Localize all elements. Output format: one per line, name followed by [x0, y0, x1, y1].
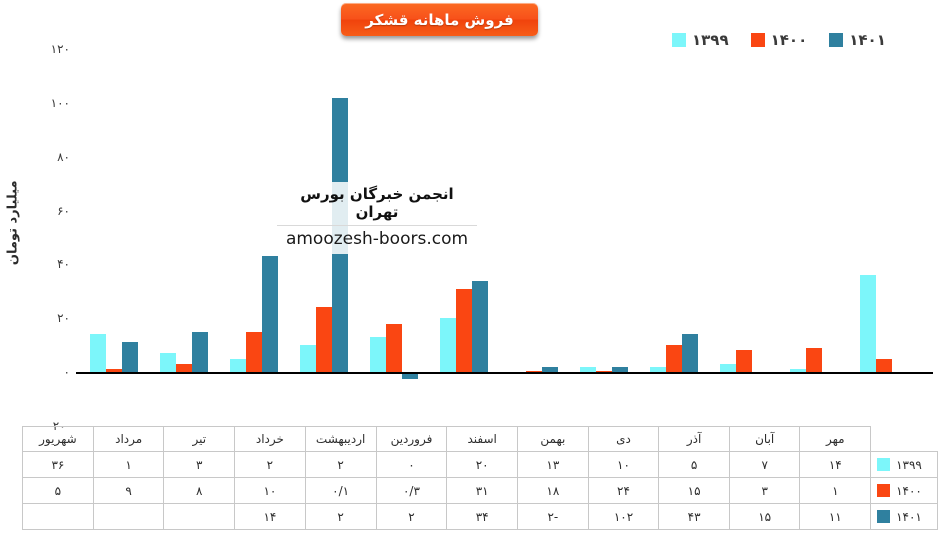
bar-۱۴۰۰-شهریور[interactable]	[876, 359, 892, 372]
table-col-header-7: اردیبهشت	[305, 427, 376, 452]
bar-۱۳۹۹-خرداد[interactable]	[650, 367, 666, 372]
bar-۱۴۰۰-آذر[interactable]	[246, 332, 262, 372]
y-tick-20: ۲۰	[30, 311, 70, 325]
bar-۱۴۰۰-فروردین[interactable]	[526, 371, 542, 373]
bars-container	[80, 36, 938, 418]
table-cell: ۱۴	[235, 504, 306, 530]
bar-۱۳۹۹-آبان[interactable]	[160, 353, 176, 372]
table-row: ۱۴۰۰۱۳۱۵۲۴۱۸۳۱۰/۳۰/۱۱۰۸۹۵	[23, 478, 938, 504]
table-col-header-0: مهر	[800, 427, 871, 452]
bar-۱۴۰۱-آذر[interactable]	[262, 256, 278, 372]
bar-۱۳۹۹-مهر[interactable]	[90, 334, 106, 372]
bar-۱۳۹۹-شهریور[interactable]	[860, 275, 876, 372]
table-col-header-1: آبان	[729, 427, 800, 452]
table-col-header-5: اسفند	[447, 427, 518, 452]
table-cell: ۲	[235, 452, 306, 478]
row-swatch-۱۳۹۹	[877, 458, 890, 471]
table-col-header-4: بهمن	[518, 427, 589, 452]
y-tick-120: ۱۲۰	[30, 42, 70, 56]
bar-۱۴۰۰-مرداد[interactable]	[806, 348, 822, 372]
row-year-label: ۱۴۰۰	[896, 484, 922, 498]
table-row: ۱۴۰۱۱۱۱۵۴۳۱۰۲-۲۳۴۲۲۱۴	[23, 504, 938, 530]
table-col-header-9: تیر	[164, 427, 235, 452]
table-cell: ۱۸	[518, 478, 589, 504]
bar-۱۳۹۹-دی[interactable]	[300, 345, 316, 372]
bar-۱۳۹۹-اردیبهشت[interactable]	[580, 367, 596, 372]
table-cell	[164, 504, 235, 530]
table-row-header-۱۴۰۱: ۱۴۰۱	[871, 504, 938, 530]
data-table: مهرآبانآذردیبهمناسفندفروردیناردیبهشتخردا…	[22, 426, 938, 530]
bar-chart-plot: میلیارد تومان ۱۲۰۱۰۰۸۰۶۰۴۰۲۰۰-۲۰	[0, 36, 938, 418]
y-tick-60: ۶۰	[30, 204, 70, 218]
bar-۱۴۰۰-مهر[interactable]	[106, 369, 122, 372]
y-tick-80: ۸۰	[30, 150, 70, 164]
table-cell	[23, 504, 94, 530]
bar-۱۳۹۹-تیر[interactable]	[720, 364, 736, 372]
table-cell: ۱۰	[235, 478, 306, 504]
table-cell: ۲۰	[447, 452, 518, 478]
table-row-header-۱۴۰۰: ۱۴۰۰	[871, 478, 938, 504]
table-header-row: مهرآبانآذردیبهمناسفندفروردیناردیبهشتخردا…	[23, 427, 938, 452]
bar-۱۴۰۰-خرداد[interactable]	[666, 345, 682, 372]
table-cell: ۵	[23, 478, 94, 504]
bar-۱۴۰۱-مهر[interactable]	[122, 342, 138, 372]
table-col-header-11: شهریور	[23, 427, 94, 452]
bar-۱۴۰۱-آبان[interactable]	[192, 332, 208, 372]
bar-۱۴۰۱-دی[interactable]	[332, 98, 348, 372]
chart-title: فروش ماهانه قشکر	[341, 3, 538, 36]
table-cell: ۱	[800, 478, 871, 504]
bar-۱۳۹۹-بهمن[interactable]	[370, 337, 386, 372]
table-cell	[93, 504, 164, 530]
table-cell: ۱۵	[729, 504, 800, 530]
bar-۱۴۰۰-دی[interactable]	[316, 307, 332, 372]
table-cell: ۲	[305, 452, 376, 478]
y-tick-0: ۰	[30, 365, 70, 379]
bar-۱۳۹۹-اسفند[interactable]	[440, 318, 456, 372]
table-col-header-3: دی	[588, 427, 659, 452]
bar-۱۴۰۰-تیر[interactable]	[736, 350, 752, 372]
bar-۱۴۰۰-بهمن[interactable]	[386, 324, 402, 372]
table-cell: ۷	[729, 452, 800, 478]
table-cell: ۱۰۲	[588, 504, 659, 530]
table-corner-cell	[871, 427, 938, 452]
bar-۱۴۰۱-خرداد[interactable]	[682, 334, 698, 372]
bar-۱۴۰۰-آبان[interactable]	[176, 364, 192, 372]
y-tick-40: ۴۰	[30, 257, 70, 271]
table-cell: ۱۴	[800, 452, 871, 478]
table-cell: ۳۱	[447, 478, 518, 504]
table-row: ۱۳۹۹۱۴۷۵۱۰۱۳۲۰۰۲۲۳۱۳۶	[23, 452, 938, 478]
table-cell: ۱۰	[588, 452, 659, 478]
table-cell: ۲	[305, 504, 376, 530]
table-cell: ۱۱	[800, 504, 871, 530]
table-cell: ۲۴	[588, 478, 659, 504]
table-header: مهرآبانآذردیبهمناسفندفروردیناردیبهشتخردا…	[23, 427, 938, 452]
bar-۱۴۰۱-اسفند[interactable]	[472, 281, 488, 372]
table-cell: ۳	[729, 478, 800, 504]
bar-۱۴۰۱-فروردین[interactable]	[542, 367, 558, 372]
table-col-header-2: آذر	[659, 427, 730, 452]
table-cell: ۳	[164, 452, 235, 478]
table-col-header-8: خرداد	[235, 427, 306, 452]
bar-۱۴۰۰-اسفند[interactable]	[456, 289, 472, 372]
table-body: ۱۳۹۹۱۴۷۵۱۰۱۳۲۰۰۲۲۳۱۳۶۱۴۰۰۱۳۱۵۲۴۱۸۳۱۰/۳۰/…	[23, 452, 938, 530]
table-col-header-6: فروردین	[376, 427, 447, 452]
row-swatch-۱۴۰۰	[877, 484, 890, 497]
table-cell: ۱	[93, 452, 164, 478]
table-cell: ۱۳	[518, 452, 589, 478]
table-cell: ۴۳	[659, 504, 730, 530]
row-year-label: ۱۴۰۱	[896, 510, 922, 524]
table-cell: ۵	[659, 452, 730, 478]
table-col-header-10: مرداد	[93, 427, 164, 452]
bar-۱۳۹۹-مرداد[interactable]	[790, 369, 806, 372]
table-row-header-۱۳۹۹: ۱۳۹۹	[871, 452, 938, 478]
table-cell: ۰/۱	[305, 478, 376, 504]
table-cell: ۳۴	[447, 504, 518, 530]
table-cell: ۲	[376, 504, 447, 530]
bar-۱۴۰۱-بهمن[interactable]	[402, 374, 418, 379]
bar-۱۳۹۹-آذر[interactable]	[230, 359, 246, 372]
table-cell: ۸	[164, 478, 235, 504]
table-cell: ۰	[376, 452, 447, 478]
bar-۱۴۰۰-اردیبهشت[interactable]	[596, 371, 612, 373]
y-axis-title: میلیارد تومان	[6, 181, 21, 203]
table-cell: ۳۶	[23, 452, 94, 478]
table-cell: ۱۵	[659, 478, 730, 504]
row-year-label: ۱۳۹۹	[896, 458, 922, 472]
bar-۱۴۰۱-اردیبهشت[interactable]	[612, 367, 628, 372]
table-cell: ۰/۳	[376, 478, 447, 504]
row-swatch-۱۴۰۱	[877, 510, 890, 523]
table-cell: -۲	[518, 504, 589, 530]
table-cell: ۹	[93, 478, 164, 504]
y-tick-100: ۱۰۰	[30, 96, 70, 110]
